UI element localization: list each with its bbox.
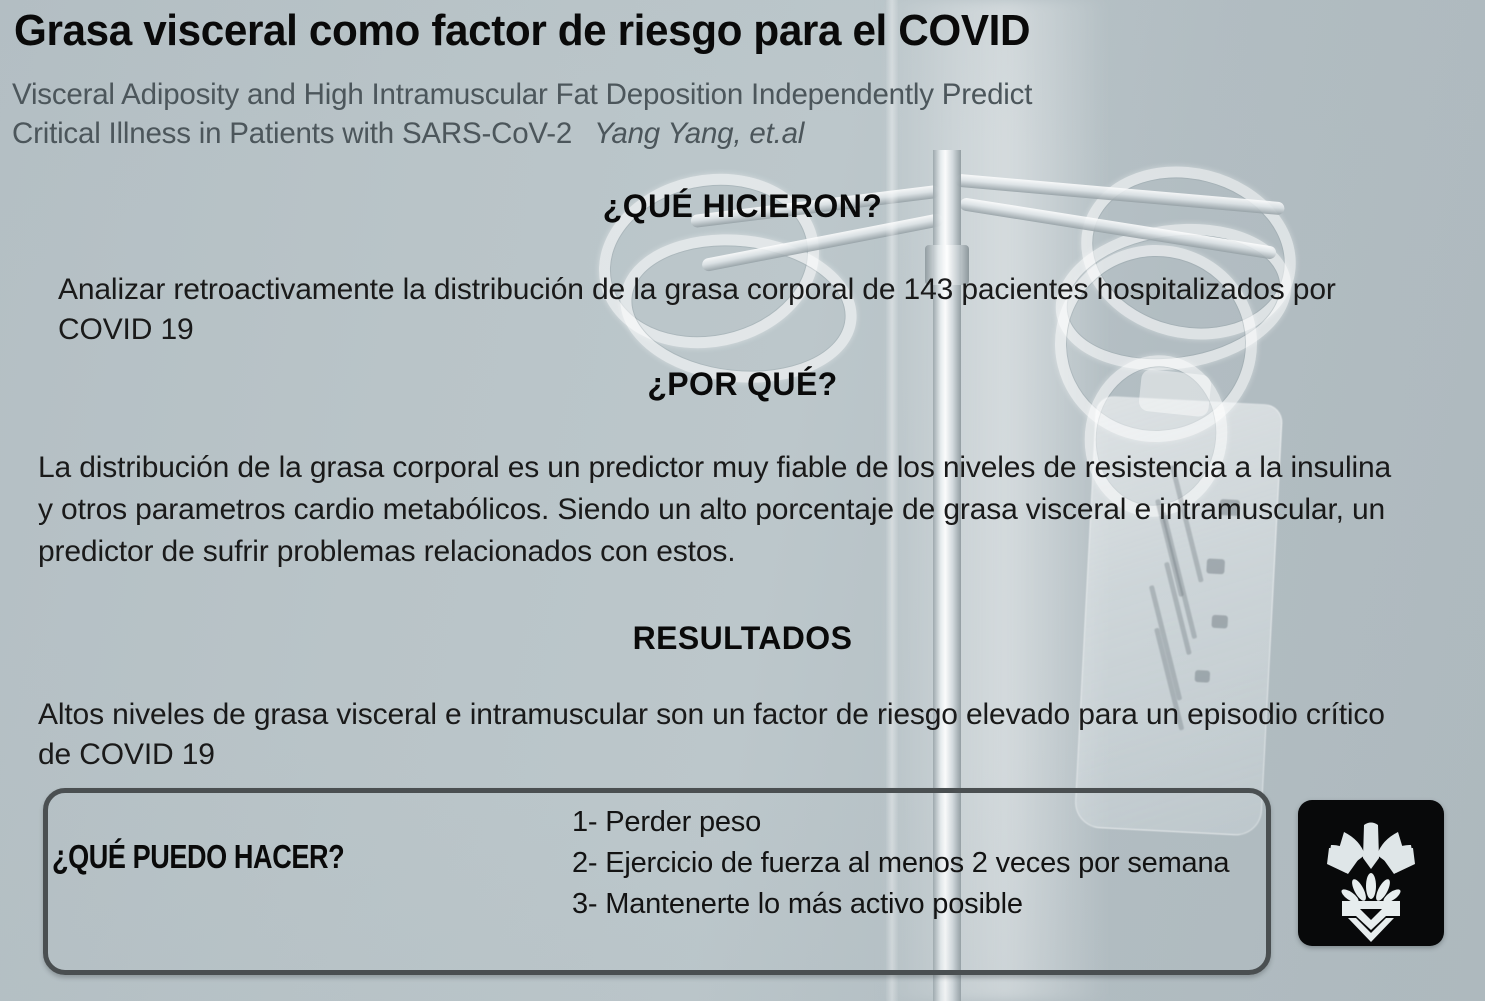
section-heading-resultados: RESULTADOS: [0, 620, 1485, 657]
crown-flower-logo-icon: [1298, 800, 1444, 946]
list-item: 2- Ejercicio de fuerza al menos 2 veces …: [572, 843, 1272, 884]
subtitle-line-2: Critical Illness in Patients with SARS-C…: [12, 117, 572, 150]
poster-subtitle: Visceral Adiposity and High Intramuscula…: [12, 76, 1432, 154]
poster-authors: Yang Yang, et.al: [594, 117, 804, 150]
section-heading-por-que: ¿POR QUÉ?: [0, 366, 1485, 403]
subtitle-line-1: Visceral Adiposity and High Intramuscula…: [12, 78, 1032, 111]
action-box-list: 1- Perder peso 2- Ejercicio de fuerza al…: [572, 802, 1272, 926]
poster-title: Grasa visceral como factor de riesgo par…: [14, 9, 1416, 54]
action-box-label: ¿QUÉ PUEDO HACER?: [52, 838, 344, 876]
section-body-que-hicieron: Analizar retroactivamente la distribució…: [58, 270, 1398, 350]
section-body-resultados: Altos niveles de grasa visceral e intram…: [38, 695, 1398, 775]
section-body-por-que: La distribución de la grasa corporal es …: [38, 447, 1398, 573]
list-item: 1- Perder peso: [572, 802, 1272, 843]
institution-logo: [1298, 800, 1444, 946]
infographic-poster: Grasa visceral como factor de riesgo par…: [0, 0, 1485, 1001]
section-heading-que-hicieron: ¿QUÉ HICIERON?: [0, 188, 1485, 225]
list-item: 3- Mantenerte lo más activo posible: [572, 884, 1272, 925]
